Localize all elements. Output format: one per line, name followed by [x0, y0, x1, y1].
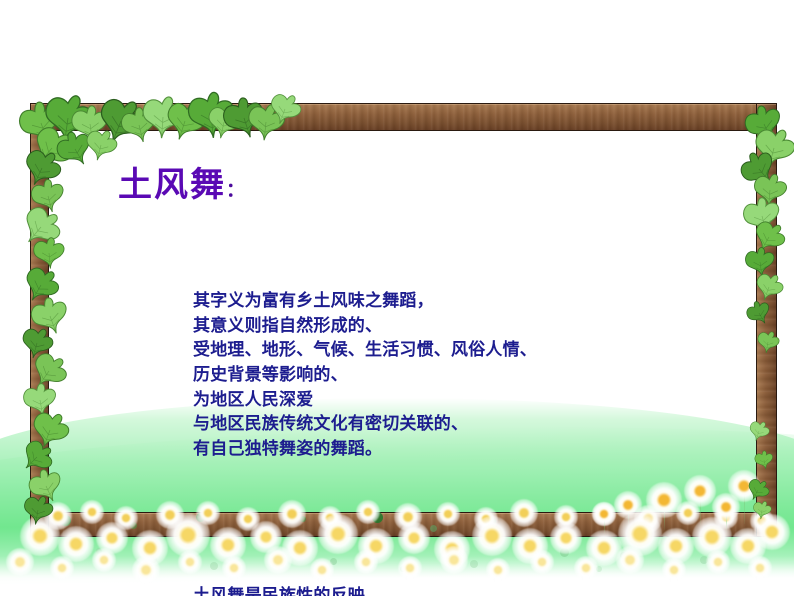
- meadow-speck: [742, 540, 751, 549]
- definition-line: 受地理、地形、气候、生活习惯、风俗人情、: [193, 338, 713, 363]
- paragraph-spacer: [193, 511, 713, 535]
- page-title: 土风舞：: [118, 168, 247, 202]
- slide-canvas: 土风舞： 其字义为富有乡土风味之舞蹈，其意义则指自然形成的、受地理、地形、气候、…: [0, 0, 794, 596]
- paragraph-summary: 土风舞是民族性的反映，舞蹈的风格和样式在每个国家都不同。: [193, 584, 713, 596]
- flower-bloom: [748, 556, 772, 580]
- ivy-leaf: [56, 130, 94, 168]
- title-colon: ：: [226, 179, 247, 201]
- flower-bloom: [6, 548, 34, 576]
- definition-line: 有自己独特舞姿的舞蹈。: [193, 437, 713, 462]
- title-text: 土风舞: [118, 165, 226, 205]
- daisy-flower: [748, 556, 772, 580]
- meadow-speck: [150, 556, 157, 563]
- ivy-leaf: [84, 128, 118, 162]
- flower-bloom: [50, 556, 74, 580]
- frame-left-post: [30, 103, 49, 537]
- paragraph-definition: 其字义为富有乡土风味之舞蹈，其意义则指自然形成的、受地理、地形、气候、生活习惯、…: [193, 289, 713, 461]
- meadow-speck: [130, 522, 137, 529]
- definition-line: 其意义则指自然形成的、: [193, 314, 713, 339]
- body-text-block: 其字义为富有乡土风味之舞蹈，其意义则指自然形成的、受地理、地形、气候、生活习惯、…: [193, 240, 713, 596]
- daisy-flower: [6, 548, 34, 576]
- definition-line: 与地区民族传统文化有密切关联的、: [193, 412, 713, 437]
- meadow-speck: [96, 548, 102, 554]
- daisy-flower: [50, 556, 74, 580]
- definition-line: 为地区人民深爱: [193, 388, 713, 413]
- frame-right-post: [756, 103, 777, 537]
- definition-line: 其字义为富有乡土风味之舞蹈，: [193, 289, 713, 314]
- definition-line: 历史背景等影响的、: [193, 363, 713, 388]
- summary-line: 土风舞是民族性的反映，: [193, 584, 713, 596]
- meadow-speck: [60, 515, 71, 526]
- frame-top-rail: [30, 103, 777, 131]
